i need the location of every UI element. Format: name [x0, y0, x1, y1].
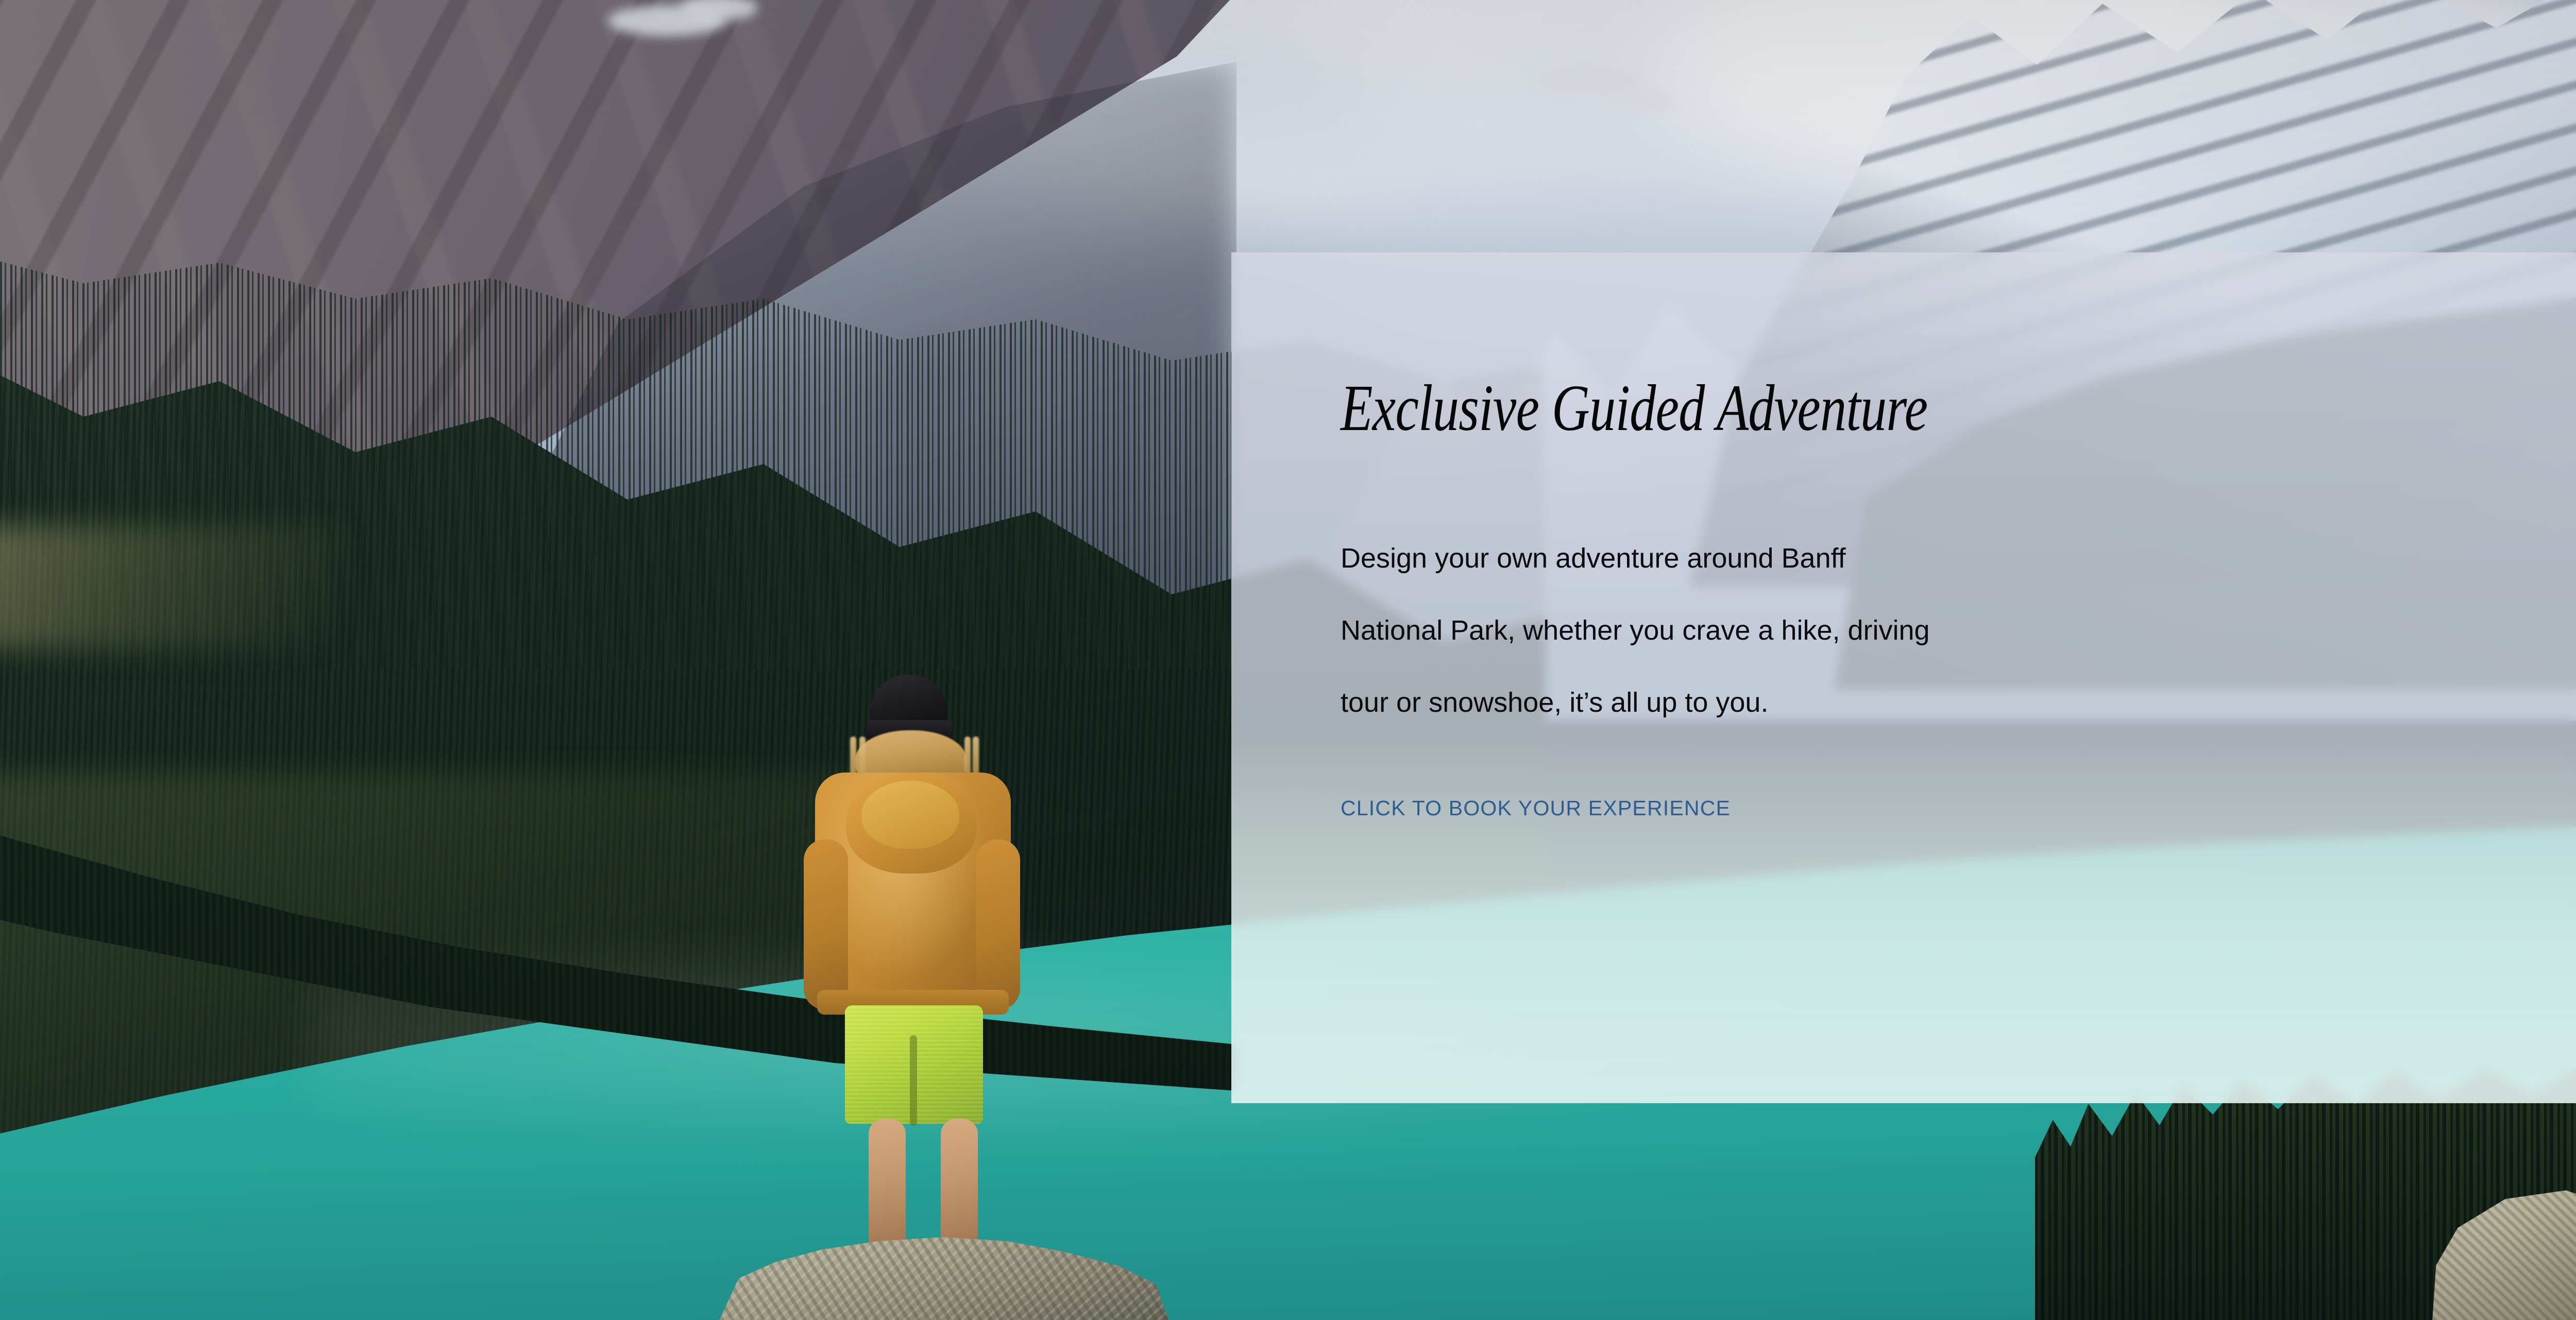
right-arm [976, 839, 1020, 1009]
left-leg [869, 1119, 906, 1259]
hood-lining [861, 781, 959, 849]
page-title: Exclusive Guided Adventure [1341, 375, 2329, 441]
promo-card-content: Exclusive Guided Adventure Design your o… [1231, 252, 2576, 1103]
shorts-inseam [910, 1035, 917, 1126]
promo-description-line: Design your own adventure around Banff [1341, 522, 2144, 594]
promo-description-line: National Park, whether you crave a hike,… [1341, 594, 2144, 666]
left-arm [804, 839, 848, 1009]
promo-description: Design your own adventure around Banff N… [1341, 522, 2144, 739]
book-experience-link[interactable]: CLICK TO BOOK YOUR EXPERIENCE [1341, 796, 1731, 820]
promo-card: Exclusive Guided Adventure Design your o… [1231, 252, 2576, 1103]
meadow-streak [0, 525, 340, 649]
hiker-figure [773, 675, 1092, 1320]
hero-banner: Exclusive Guided Adventure Design your o… [0, 0, 2576, 1320]
snow-patch [1607, 93, 1674, 113]
promo-description-line: tour or snowshoe, it’s all up to you. [1341, 666, 2144, 739]
